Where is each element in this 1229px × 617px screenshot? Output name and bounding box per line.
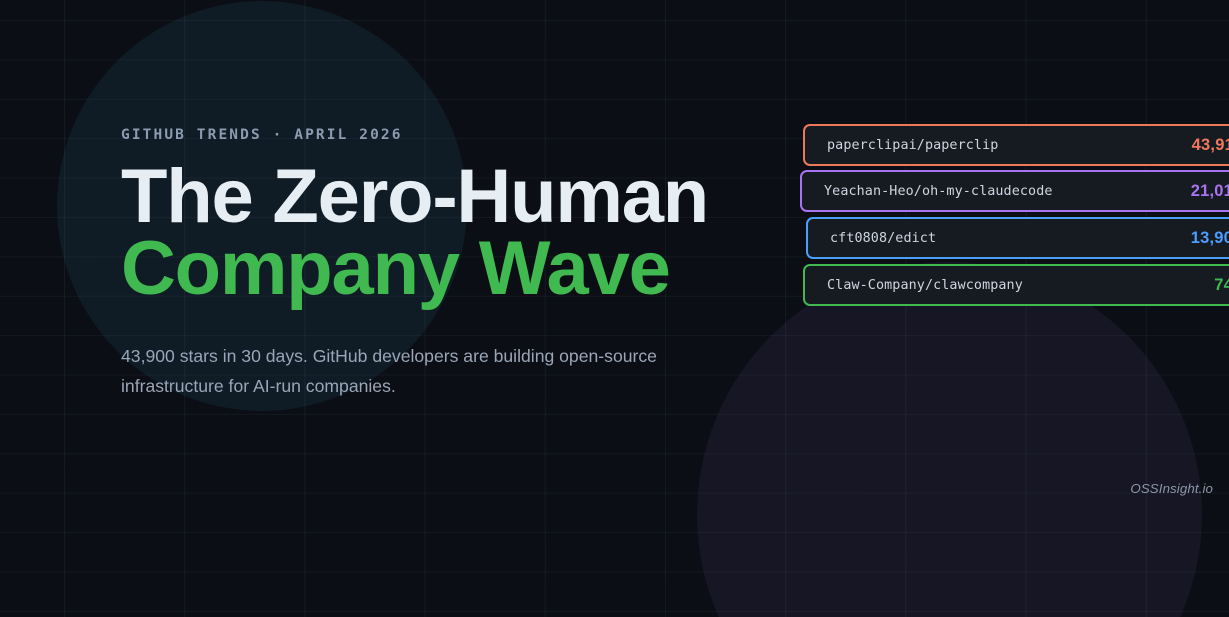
watermark-label: OSSInsight.io <box>1130 481 1213 496</box>
repo-name-label: paperclipai/paperclip <box>827 138 998 153</box>
repo-card[interactable]: cft0808/edict13,905★ <box>806 217 1229 259</box>
star-count-value: 749 <box>1214 276 1229 295</box>
repo-star-count: 749★ <box>1214 276 1229 295</box>
star-count-value: 21,015 <box>1191 182 1229 201</box>
repo-card[interactable]: Claw-Company/clawcompany749★ <box>803 264 1229 306</box>
repo-ranking-list: paperclipai/paperclip43,911★Yeachan-Heo/… <box>0 124 1229 309</box>
repo-star-count: 13,905★ <box>1191 229 1229 248</box>
subtitle-text: 43,900 stars in 30 days. GitHub develope… <box>121 341 696 402</box>
star-count-value: 43,911 <box>1192 136 1229 155</box>
repo-card[interactable]: paperclipai/paperclip43,911★ <box>803 124 1229 166</box>
star-count-value: 13,905 <box>1191 229 1229 248</box>
repo-name-label: Yeachan-Heo/oh-my-claudecode <box>824 184 1053 199</box>
poster-canvas: GITHUB TRENDS · APRIL 2026 The Zero-Huma… <box>0 0 1229 617</box>
repo-star-count: 43,911★ <box>1192 136 1229 155</box>
repo-name-label: Claw-Company/clawcompany <box>827 278 1023 293</box>
repo-star-count: 21,015★ <box>1191 182 1229 201</box>
repo-name-label: cft0808/edict <box>830 231 936 246</box>
repo-card[interactable]: Yeachan-Heo/oh-my-claudecode21,015★ <box>800 170 1229 212</box>
